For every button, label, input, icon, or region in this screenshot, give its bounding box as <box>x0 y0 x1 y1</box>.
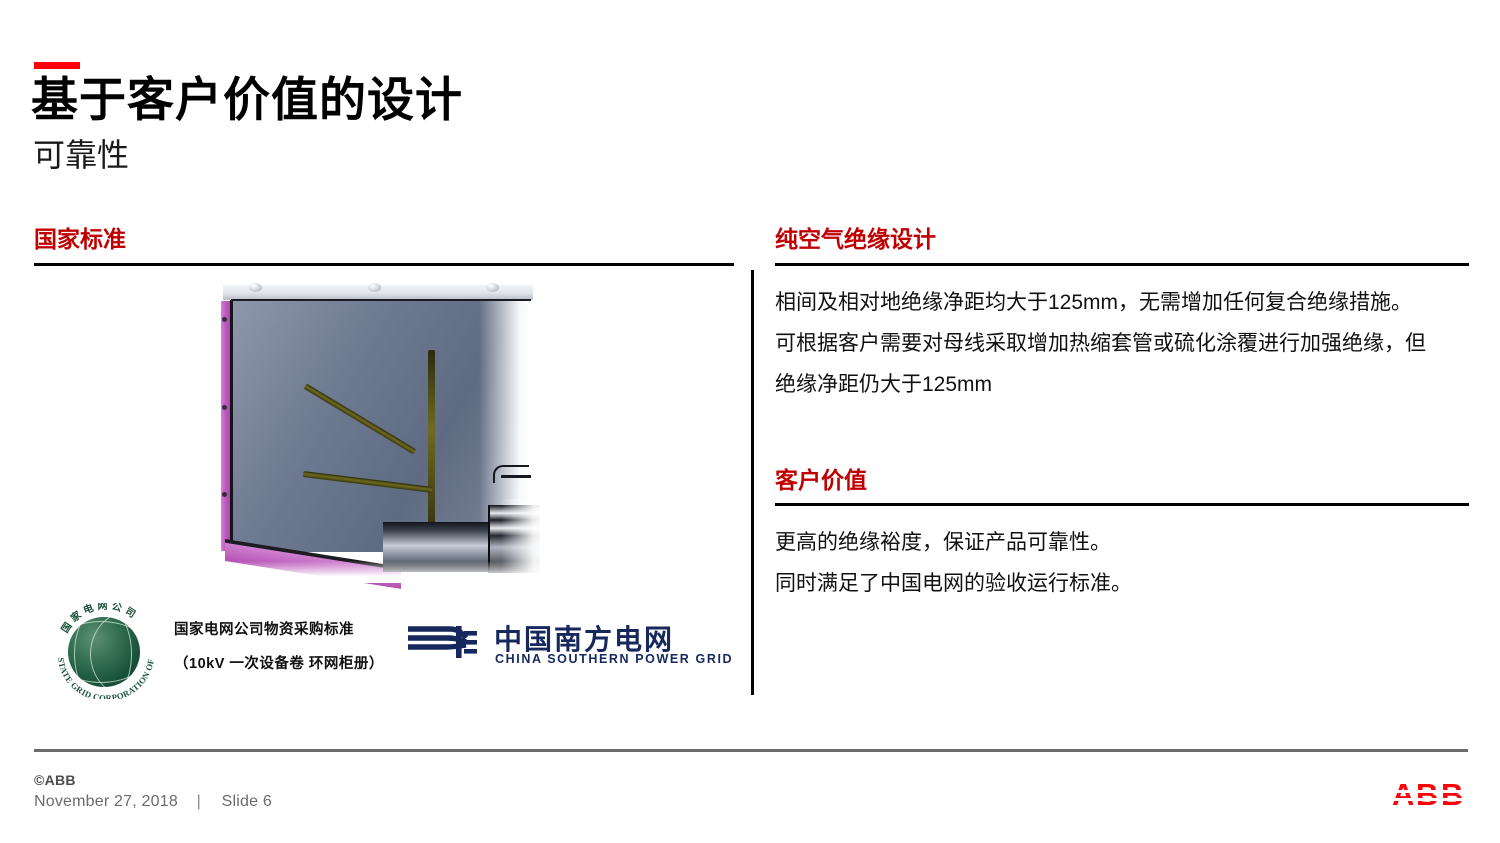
section-rule <box>34 263 734 266</box>
body-line: 同时满足了中国电网的验收运行标准。 <box>775 564 1469 605</box>
cable-hook-detail <box>501 475 531 478</box>
mounting-hole-icon <box>222 405 227 410</box>
csg-mark-icon <box>406 622 480 662</box>
panel-left-edge-strip <box>221 301 230 551</box>
csg-name-en: CHINA SOUTHERN POWER GRID <box>495 652 733 666</box>
section-heading-national-standard: 国家标准 <box>34 225 734 254</box>
mounting-hole-icon <box>222 317 227 322</box>
certification-logo-row: STATE GRID CORPORATION OF CHINA 国家电网公司 国… <box>34 600 734 700</box>
abb-logo-bars <box>1392 782 1468 808</box>
state-grid-caption-line2: （10kV 一次设备卷 环网柜册） <box>174 652 384 673</box>
panel-left-edge-outline <box>230 300 233 552</box>
mounting-hole-icon <box>222 492 227 497</box>
section-body: 相间及相对地绝缘净距均大于125mm，无需增加任何复合绝缘措施。 可根据客户需要… <box>775 283 1469 406</box>
footer-date: November 27, 2018 <box>34 793 178 810</box>
section-customer-value: 客户价值 更高的绝缘裕度，保证产品可靠性。 同时满足了中国电网的验收运行标准。 <box>775 466 1469 606</box>
screw-icon <box>249 283 262 292</box>
busbar-vertical <box>428 350 435 525</box>
footer-meta: November 27, 2018 | Slide 6 <box>34 793 272 811</box>
left-column: 国家标准 <box>34 225 734 266</box>
red-accent-bar <box>34 62 80 69</box>
body-line: 可根据客户需要对母线采取增加热缩套管或硫化涂覆进行加强绝缘，但 <box>775 324 1469 365</box>
state-grid-globe-logo: STATE GRID CORPORATION OF CHINA 国家电网公司 <box>50 603 162 699</box>
column-divider <box>751 270 754 695</box>
figure-bottom-fade <box>197 561 543 583</box>
state-grid-ring-text: STATE GRID CORPORATION OF CHINA 国家电网公司 <box>50 603 162 699</box>
cable-hook-detail <box>493 465 529 483</box>
slide-canvas: 基于客户价值的设计 可靠性 国家标准 <box>0 0 1500 843</box>
cabinet-back-panel <box>231 299 531 552</box>
screw-icon <box>368 283 381 292</box>
footer-separator: | <box>183 793 215 810</box>
state-grid-caption: 国家电网公司物资采购标准 （10kV 一次设备卷 环网柜册） <box>174 618 384 673</box>
section-heading: 客户价值 <box>775 466 1469 495</box>
section-air-insulation-design: 纯空气绝缘设计 相间及相对地绝缘净距均大于125mm，无需增加任何复合绝缘措施。… <box>775 225 1469 406</box>
footer-slide-number: Slide 6 <box>220 793 272 810</box>
section-rule <box>775 263 1469 266</box>
body-line: 绝缘净距仍大于125mm <box>775 365 1469 406</box>
switchgear-cad-render <box>205 277 535 577</box>
state-grid-caption-line1: 国家电网公司物资采购标准 <box>174 618 384 639</box>
screw-icon <box>486 283 499 292</box>
section-body: 更高的绝缘裕度，保证产品可靠性。 同时满足了中国电网的验收运行标准。 <box>775 523 1469 605</box>
body-line: 更高的绝缘裕度，保证产品可靠性。 <box>775 523 1469 564</box>
footer-divider <box>34 749 1468 752</box>
page-title: 基于客户价值的设计 <box>31 74 463 127</box>
right-column: 纯空气绝缘设计 相间及相对地绝缘净距均大于125mm，无需增加任何复合绝缘措施。… <box>775 225 1469 605</box>
footer-copyright: ©ABB <box>34 772 76 788</box>
section-heading: 纯空气绝缘设计 <box>775 225 1469 254</box>
section-gap <box>775 406 1469 466</box>
abb-logo: A B B <box>1392 782 1468 808</box>
body-line: 相间及相对地绝缘净距均大于125mm，无需增加任何复合绝缘措施。 <box>775 283 1469 324</box>
page-subtitle: 可靠性 <box>33 136 129 174</box>
svg-text:STATE GRID CORPORATION OF CHIN: STATE GRID CORPORATION OF CHINA <box>50 603 156 699</box>
svg-text:国家电网公司: 国家电网公司 <box>59 603 141 635</box>
section-rule <box>775 503 1469 506</box>
china-southern-power-grid-logo: 中国南方电网 CHINA SOUTHERN POWER GRID <box>406 618 666 674</box>
